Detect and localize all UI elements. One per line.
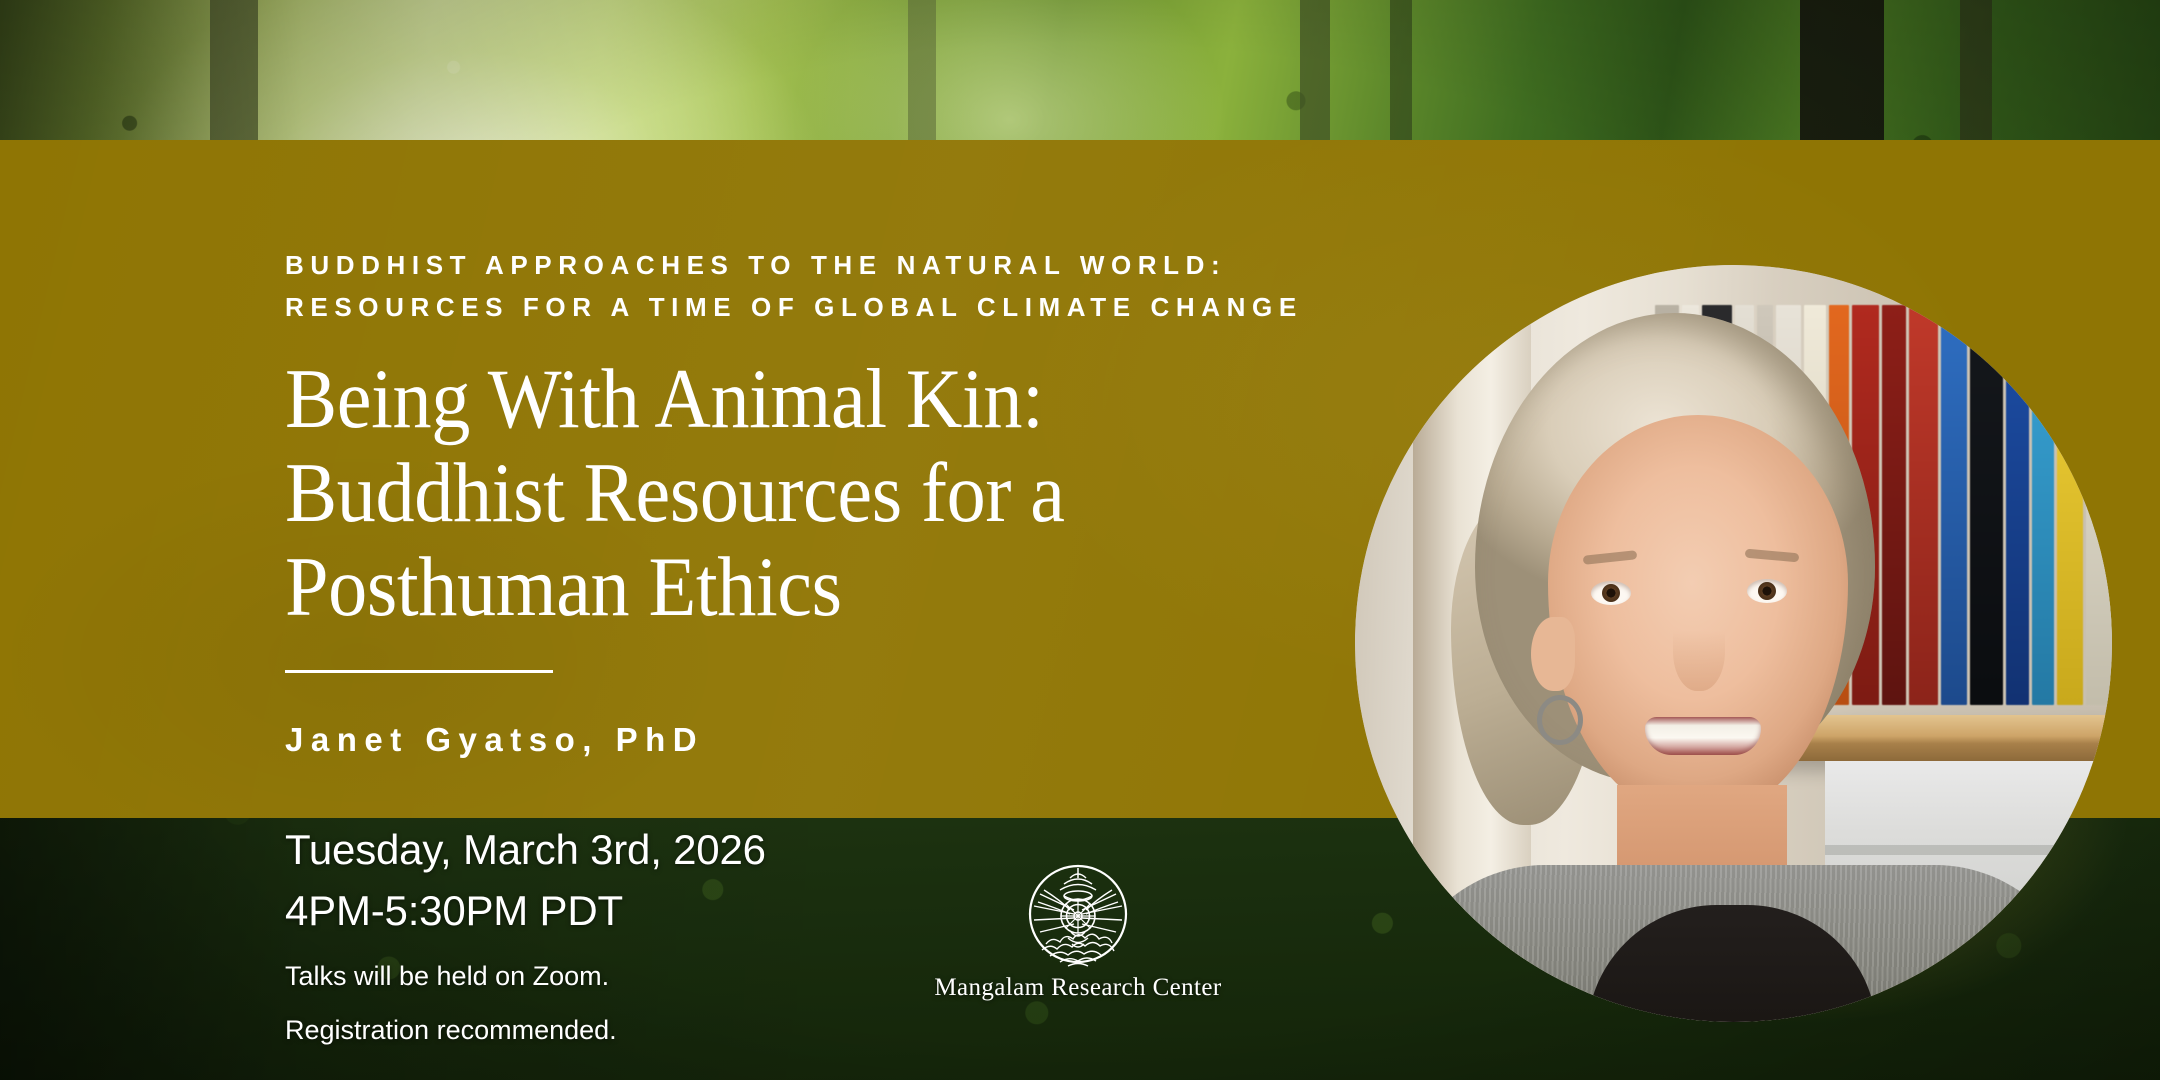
organization-name: Mangalam Research Center [928, 974, 1228, 1002]
event-poster: BUDDHIST APPROACHES TO THE NATURAL WORLD… [0, 0, 2160, 1080]
event-title-line-2: Buddhist Resources for a [285, 446, 1223, 540]
title-divider-rule [285, 670, 553, 673]
series-kicker-line-1: BUDDHIST APPROACHES TO THE NATURAL WORLD… [285, 244, 1305, 286]
series-kicker-line-2: RESOURCES FOR A TIME OF GLOBAL CLIMATE C… [285, 286, 1305, 328]
mangalam-mandala-icon [928, 858, 1228, 970]
portrait-nose [1673, 605, 1725, 691]
portrait-mantel-trim [1825, 845, 2112, 855]
portrait-ear [1531, 617, 1575, 691]
speaker-portrait [1355, 265, 2112, 1022]
organization-logo-block: Mangalam Research Center [928, 858, 1228, 1002]
event-title-line-1: Being With Animal Kin: [285, 352, 1223, 446]
headline-block: BUDDHIST APPROACHES TO THE NATURAL WORLD… [285, 244, 1305, 759]
speaker-name: Janet Gyatso, PhD [285, 721, 1305, 759]
portrait-eye-right [1747, 579, 1787, 603]
event-note-line-2: Registration recommended. [285, 1010, 1045, 1050]
event-title: Being With Animal Kin: Buddhist Resource… [285, 352, 1223, 634]
portrait-earring [1537, 695, 1583, 745]
portrait-eye-left [1591, 581, 1631, 605]
event-title-line-3: Posthuman Ethics [285, 540, 1223, 634]
portrait-mouth [1645, 717, 1761, 755]
